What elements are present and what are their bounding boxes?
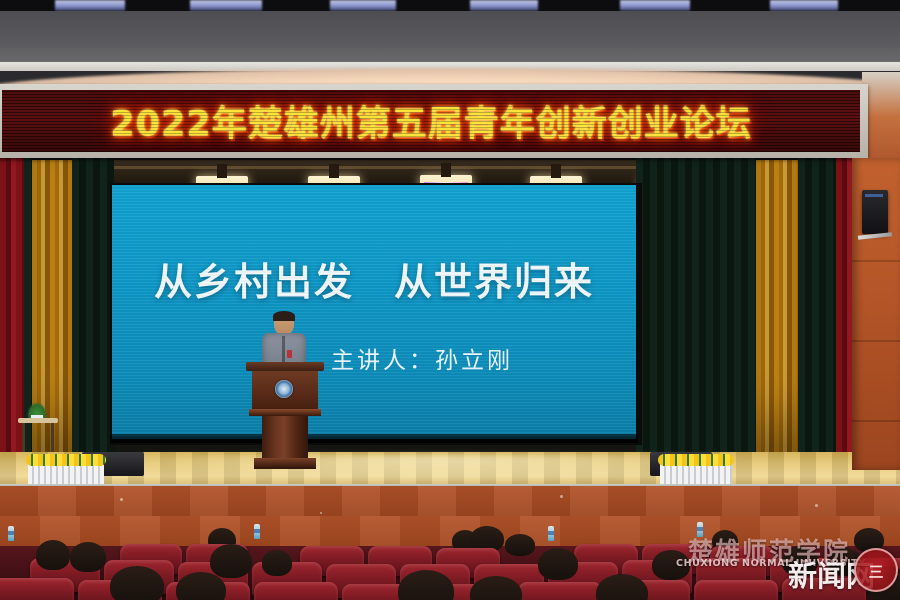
side-table [18,418,58,452]
ceiling-light-1 [55,0,125,11]
lamp-yoke [441,163,451,177]
audience-head [70,542,106,572]
projection-screen: 从乡村出发 从世界归来 主讲人：孙立刚 [112,185,636,439]
speaker-hair [273,311,295,321]
audience-head [505,534,535,556]
wall-speck [815,504,818,507]
curtain-dark-left2 [72,158,114,464]
watermark-seal-icon: 三 [854,548,898,592]
ceiling-light-5 [620,0,690,11]
audience-head [36,540,70,570]
ceiling-light-6 [770,0,838,11]
led-banner-frame: 2022年楚雄州第五届青年创新创业论坛 [0,84,868,158]
water-bottle [8,526,14,541]
podium-top [246,362,324,371]
right-flower-box [660,462,732,484]
wall-speaker [862,190,888,234]
water-bottle [548,526,554,541]
podium-column [262,416,308,460]
screen-bottom-shadow [110,434,638,443]
ceiling-light-3 [330,0,396,11]
pillar-seam [852,420,900,422]
lamp-yoke [329,164,339,178]
side-table-leg [22,423,25,452]
curtain-dark-right2 [636,158,758,464]
left-flower-box [28,462,104,484]
audience-head [110,566,164,600]
ceiling-wall [0,11,900,63]
watermark-seal-char: 三 [856,561,896,582]
lamp-yoke [551,164,561,178]
audience-head [538,548,578,580]
ceiling-light-4 [470,0,538,11]
lamp-yoke [217,164,227,178]
pillar-seam [852,340,900,342]
audience-head [176,572,226,600]
screen-subtitle: 主讲人：孙立刚 [112,341,636,375]
audience-seat [0,578,74,600]
wall-speck [120,498,123,501]
podium [252,362,318,470]
curtain-dark-right [798,158,838,464]
curtain-gold-right [756,160,800,460]
podium-base [254,458,316,469]
ceiling-light-2 [190,0,262,11]
photo-scene: 从乡村出发 从世界归来 主讲人：孙立刚 2022年楚雄州第五届青年创新创业论坛 [0,0,900,600]
wall-speck [320,512,322,514]
podium-band [249,409,321,416]
side-table-leg [51,423,54,452]
audience-seat [518,582,602,600]
wall-speck [560,495,563,498]
led-banner-screen: 2022年楚雄州第五届青年创新创业论坛 [2,90,860,152]
pillar-seam [852,260,900,262]
audience-seat [254,582,338,600]
screen-title: 从乡村出发 从世界归来 [112,251,636,306]
audience-head [210,544,252,578]
audience-head [262,550,292,576]
led-banner-text: 2022年楚雄州第五届青年创新创业论坛 [2,96,860,147]
speaker-badge [287,350,292,358]
water-bottle [254,524,260,539]
watermark: 楚雄师范学院 CHUXIONG NORMAL UNIVERSITY 新闻网 三 [676,532,892,590]
podium-emblem-icon [275,380,293,398]
